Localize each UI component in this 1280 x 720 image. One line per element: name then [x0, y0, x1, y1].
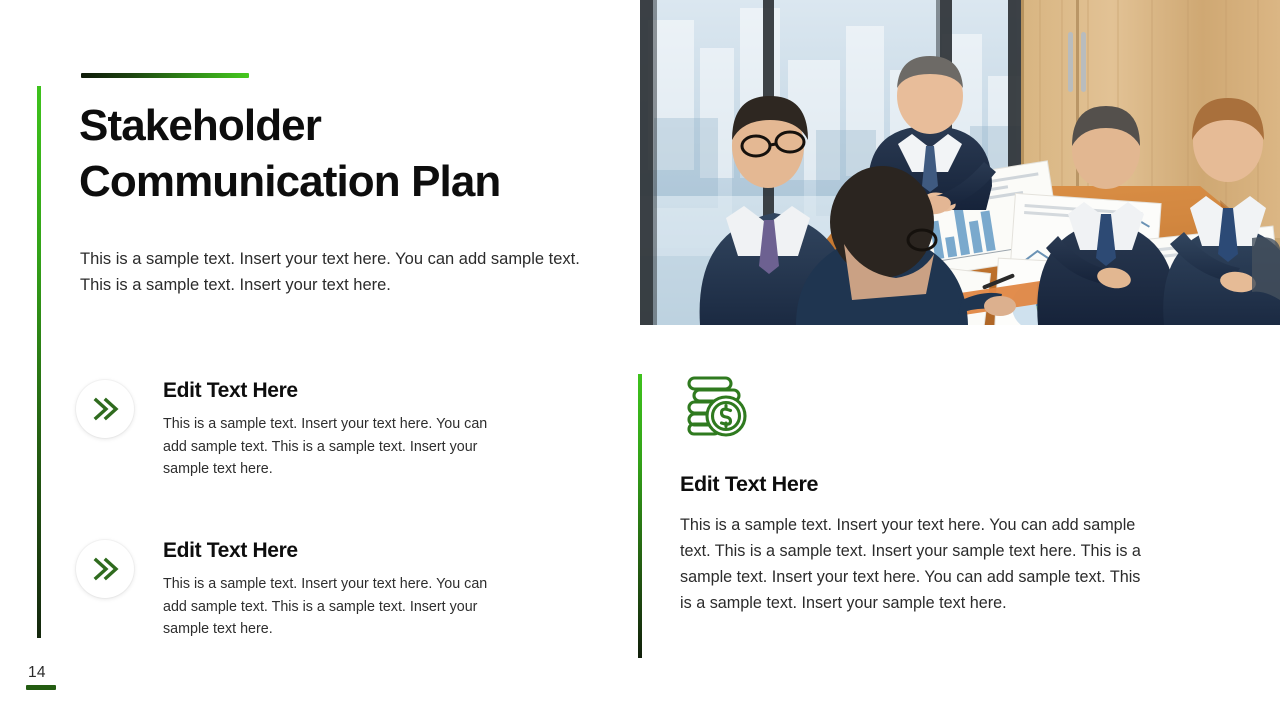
page-subtitle: This is a sample text. Insert your text …: [80, 247, 598, 298]
slide-root: Stakeholder Communication Plan This is a…: [0, 0, 1280, 720]
coin-stack-dollar-glyph: [680, 374, 750, 438]
double-chevron-right-icon[interactable]: [76, 380, 134, 438]
list-item-text: This is a sample text. Insert your text …: [163, 573, 515, 640]
list-item-title: Edit Text Here: [163, 538, 583, 563]
double-chevron-right-glyph: [90, 396, 120, 422]
right-accent-rail: [638, 374, 642, 658]
page-number: 14: [28, 664, 46, 682]
double-chevron-right-glyph: [90, 556, 120, 582]
right-content-panel: Edit Text Here This is a sample text. In…: [680, 374, 1160, 617]
list-item-text: This is a sample text. Insert your text …: [163, 413, 515, 480]
list-item-title: Edit Text Here: [163, 378, 583, 403]
coin-stack-dollar-icon: [680, 374, 750, 438]
meeting-photo-illustration: [640, 0, 1280, 325]
double-chevron-right-icon[interactable]: [76, 540, 134, 598]
list-item-body: Edit Text Here This is a sample text. In…: [163, 378, 583, 481]
right-panel-text: This is a sample text. Insert your text …: [680, 513, 1152, 617]
list-item-body: Edit Text Here This is a sample text. In…: [163, 538, 583, 641]
left-accent-rail: [37, 86, 41, 638]
meeting-photo: [640, 0, 1280, 325]
title-accent-line: [81, 73, 249, 78]
page-title: Stakeholder Communication Plan: [79, 98, 619, 211]
page-number-underline: [26, 685, 56, 690]
right-panel-title: Edit Text Here: [680, 472, 1160, 497]
